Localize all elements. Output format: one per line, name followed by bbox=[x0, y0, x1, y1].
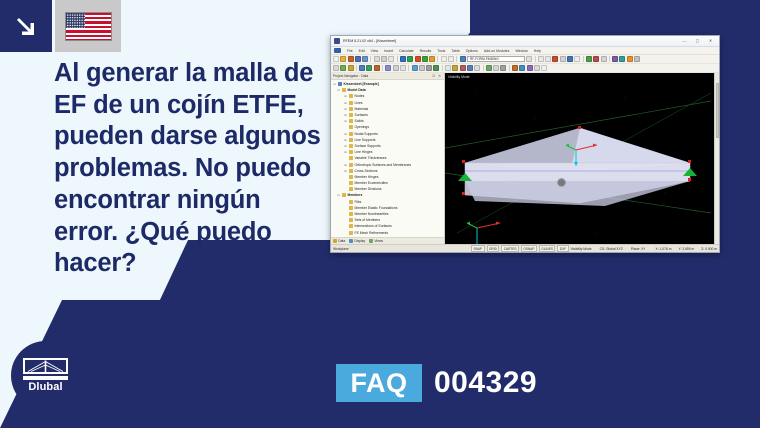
folder-icon bbox=[349, 169, 354, 173]
tree-item-label: Member Nonlinearities bbox=[355, 212, 389, 216]
toolbar2-fit-icon[interactable] bbox=[433, 65, 439, 71]
tree-item-label: Orthotropic Surfaces and Membranes bbox=[355, 163, 412, 167]
toolbar2-pan-icon[interactable] bbox=[419, 65, 425, 71]
expander-icon[interactable]: ⊟ bbox=[333, 82, 336, 86]
tree-item-label: Lines bbox=[355, 101, 363, 105]
close-icon[interactable]: ✕ bbox=[707, 39, 714, 43]
toolbar-module-icon[interactable] bbox=[460, 56, 466, 62]
folder-icon bbox=[349, 138, 354, 142]
tree-item-label: Line Supports bbox=[355, 138, 376, 142]
tree-item-label: Materials bbox=[355, 107, 369, 111]
rfem-menu-bar[interactable]: File Edit View Insert Calculate Results … bbox=[331, 47, 719, 55]
expander-icon[interactable]: ⊞ bbox=[344, 107, 347, 111]
toolbar2-front-icon[interactable] bbox=[452, 65, 458, 71]
toolbar-cut-icon[interactable] bbox=[374, 56, 380, 62]
project-icon bbox=[338, 82, 343, 86]
toolbar2-wire-icon[interactable] bbox=[474, 65, 480, 71]
toolbar-solid-icon[interactable] bbox=[619, 56, 625, 62]
navigator-tab-strip[interactable]: Data Display Views bbox=[331, 237, 444, 244]
toolbar-paste-icon[interactable] bbox=[388, 56, 394, 62]
menu-item-view[interactable]: View bbox=[371, 49, 379, 53]
menu-item-edit[interactable]: Edit bbox=[359, 49, 365, 53]
tree-item-label: Surface Supports bbox=[355, 144, 381, 148]
data-tab-icon bbox=[333, 239, 337, 243]
tree-item-label: Sets of Members bbox=[355, 218, 381, 222]
menu-item-window[interactable]: Window bbox=[515, 49, 527, 53]
tree-item-label: Cross-Sections bbox=[355, 169, 378, 173]
folder-icon bbox=[349, 125, 354, 129]
toolbar2-settings-icon[interactable] bbox=[534, 65, 540, 71]
folder-icon bbox=[349, 218, 354, 222]
expander-icon[interactable]: ⊞ bbox=[344, 169, 347, 173]
scrollbar-thumb[interactable] bbox=[716, 83, 720, 138]
navigator-tab-display[interactable]: Display bbox=[349, 239, 365, 243]
toolbar-table-icon[interactable] bbox=[441, 56, 447, 62]
folder-icon bbox=[349, 163, 354, 167]
expander-icon[interactable]: ⊞ bbox=[344, 144, 347, 148]
status-y: Y: 2.659 m bbox=[678, 247, 694, 251]
tree-item-label: FE Mesh Refinements bbox=[355, 231, 389, 235]
dlubal-logo[interactable]: Dlubal bbox=[11, 341, 80, 410]
status-toggle-snap[interactable]: SNAP bbox=[471, 245, 484, 252]
status-toggle-osnap[interactable]: OSNAP bbox=[521, 245, 537, 252]
rfem-toolbar-row-1[interactable]: RF-FORM-FINDING bbox=[331, 55, 719, 64]
expander-icon[interactable]: ⊞ bbox=[344, 101, 347, 105]
toolbar-copy-icon[interactable] bbox=[381, 56, 387, 62]
panel-controls-icon[interactable]: ⊡ ✕ bbox=[432, 74, 442, 78]
addon-module-combo[interactable]: RF-FORM-FINDING bbox=[467, 56, 525, 62]
toolbar-render-icon[interactable] bbox=[429, 56, 435, 62]
toolbar-view-icon[interactable] bbox=[586, 56, 592, 62]
minimize-icon[interactable]: — bbox=[681, 39, 688, 43]
tree-item-label: Openings bbox=[355, 125, 370, 129]
status-z: Z: 0.000 m bbox=[701, 247, 717, 251]
toolbar2-support-icon[interactable] bbox=[374, 65, 380, 71]
status-coordinate-system: CS: Global XYZ bbox=[600, 247, 623, 251]
tree-item-label: Ribs bbox=[355, 200, 362, 204]
expander-icon[interactable]: ⊞ bbox=[344, 113, 347, 117]
tree-item-label: Member Divisions bbox=[355, 187, 382, 191]
rfem-title-text: RFEM 5.21.02 x64 - [Kissenbeet] bbox=[343, 39, 396, 43]
tree-label-model-data: Model Data bbox=[348, 88, 366, 92]
folder-icon bbox=[349, 150, 354, 154]
viewport-vertical-scrollbar[interactable] bbox=[714, 73, 719, 244]
tab-label: Display bbox=[354, 239, 365, 243]
faq-badge: FAQ bbox=[336, 364, 422, 402]
toolbar-grid-icon[interactable] bbox=[448, 56, 454, 62]
display-tab-icon bbox=[349, 239, 353, 243]
status-workplane-label: Workplane bbox=[333, 247, 349, 251]
toolbar2-zoomwin-icon[interactable] bbox=[426, 65, 432, 71]
toolbar-results-icon[interactable] bbox=[422, 56, 428, 62]
tree-item-label: Nodes bbox=[355, 94, 365, 98]
toolbar2-light-icon[interactable] bbox=[500, 65, 506, 71]
toolbar-zoom-icon[interactable] bbox=[574, 56, 580, 62]
folder-icon bbox=[349, 144, 354, 148]
toolbar-redo-icon[interactable] bbox=[407, 56, 413, 62]
menu-item-insert[interactable]: Insert bbox=[384, 49, 393, 53]
rfem-title-bar: RFEM 5.21.02 x64 - [Kissenbeet] — ▢ ✕ bbox=[331, 36, 719, 47]
language-flag-badge[interactable] bbox=[55, 0, 121, 52]
project-navigator-panel[interactable]: Project Navigator - Data ⊡ ✕ ⊟ Kissenbee… bbox=[331, 73, 445, 244]
folder-icon bbox=[349, 175, 354, 179]
expander-icon[interactable]: ⊞ bbox=[344, 163, 347, 167]
tree-label-project: Kissenbeet [Example] bbox=[344, 82, 379, 86]
toolbar2-top-icon[interactable] bbox=[460, 65, 466, 71]
folder-icon bbox=[349, 212, 354, 216]
combo-dropdown-icon[interactable] bbox=[526, 56, 532, 62]
toolbar2-help-icon[interactable] bbox=[541, 65, 547, 71]
toolbar-run-icon[interactable] bbox=[552, 56, 558, 62]
status-toggle-glines[interactable]: GLINES bbox=[539, 245, 555, 252]
tree-item-label: Solids bbox=[355, 119, 364, 123]
expander-icon[interactable]: ⊟ bbox=[337, 88, 340, 92]
toolbar2-report-icon[interactable] bbox=[527, 65, 533, 71]
toolbar-info-icon[interactable] bbox=[567, 56, 573, 62]
folder-icon bbox=[349, 206, 354, 210]
tree-item-label: Member Hinges bbox=[355, 175, 379, 179]
folder-icon bbox=[349, 101, 354, 105]
views-tab-icon bbox=[369, 239, 373, 243]
toolbar2-rotate-icon[interactable] bbox=[412, 65, 418, 71]
menu-item-file[interactable]: File bbox=[347, 49, 353, 53]
toolbar-more-icon[interactable] bbox=[634, 56, 640, 62]
toolbar-preview-icon[interactable] bbox=[362, 56, 368, 62]
tree-item-label: Variable Thicknesses bbox=[355, 156, 387, 160]
window-controls[interactable]: — ▢ ✕ bbox=[681, 39, 716, 43]
toolbar2-shade-icon[interactable] bbox=[486, 65, 492, 71]
folder-icon bbox=[349, 187, 354, 191]
rfem-toolbar-row-2[interactable] bbox=[331, 64, 719, 73]
folder-icon bbox=[349, 132, 354, 136]
toolbar-next-icon[interactable] bbox=[545, 56, 551, 62]
toolbar2-anim-icon[interactable] bbox=[519, 65, 525, 71]
expander-icon[interactable]: ⊞ bbox=[344, 119, 347, 123]
toolbar2-transparent-icon[interactable] bbox=[493, 65, 499, 71]
rfem-main-area: Project Navigator - Data ⊡ ✕ ⊟ Kissenbee… bbox=[331, 73, 719, 244]
status-x: X: 1.076 m bbox=[656, 247, 672, 251]
toolbar-prev-icon[interactable] bbox=[538, 56, 544, 62]
toolbar-measure-icon[interactable] bbox=[601, 56, 607, 62]
tab-label: Data bbox=[338, 239, 345, 243]
download-arrow-badge[interactable] bbox=[0, 0, 52, 52]
status-plane: Plane: XY bbox=[631, 247, 646, 251]
toolbar2-member-icon[interactable] bbox=[359, 65, 365, 71]
toolbar2-line-icon[interactable] bbox=[348, 65, 354, 71]
toolbar-save-icon[interactable] bbox=[348, 56, 354, 62]
folder-icon bbox=[349, 200, 354, 204]
folder-icon bbox=[349, 107, 354, 111]
toolbar2-pointer-icon[interactable] bbox=[333, 65, 339, 71]
tree-item-label: Surfaces bbox=[355, 113, 368, 117]
model-viewport-3d[interactable]: Visibility Mode bbox=[445, 73, 714, 244]
toolbar-undo-icon[interactable] bbox=[400, 56, 406, 62]
download-arrow-icon bbox=[13, 13, 39, 39]
toolbar-calculate-icon[interactable] bbox=[415, 56, 421, 62]
menu-item-help[interactable]: Help bbox=[534, 49, 541, 53]
project-navigator-header: Project Navigator - Data ⊡ ✕ bbox=[331, 73, 444, 80]
menu-item-tools[interactable]: Tools bbox=[437, 49, 445, 53]
folder-icon bbox=[342, 193, 347, 197]
dlubal-logo-text: Dlubal bbox=[28, 381, 62, 393]
project-navigator-title: Project Navigator - Data bbox=[333, 74, 368, 78]
faq-slide: Al generar la malla de EF de un cojín ET… bbox=[0, 0, 760, 428]
toolbar2-iso-icon[interactable] bbox=[445, 65, 451, 71]
folder-icon bbox=[349, 224, 354, 228]
expander-icon[interactable]: ⊞ bbox=[344, 138, 347, 142]
menu-item-addon-modules[interactable]: Add-on Modules bbox=[484, 49, 510, 53]
toolbar2-hinge-icon[interactable] bbox=[385, 65, 391, 71]
maximize-icon[interactable]: ▢ bbox=[694, 39, 701, 43]
tab-label: Views bbox=[374, 239, 383, 243]
tree-label-members: Members bbox=[348, 193, 363, 197]
navigator-tab-data[interactable]: Data bbox=[333, 239, 345, 243]
folder-icon bbox=[349, 231, 354, 235]
etfe-cushion-3d-model bbox=[445, 73, 711, 244]
tree-item-label: Member Eccentricities bbox=[355, 181, 388, 185]
rfem-application-window[interactable]: RFEM 5.21.02 x64 - [Kissenbeet] — ▢ ✕ Fi… bbox=[330, 35, 720, 253]
menu-item-calculate[interactable]: Calculate bbox=[399, 49, 414, 53]
toolbar-surface-icon[interactable] bbox=[612, 56, 618, 62]
status-mode: Visibility Mode bbox=[571, 247, 592, 251]
folder-icon bbox=[342, 88, 347, 92]
toolbar-print-icon[interactable] bbox=[355, 56, 361, 62]
folder-icon bbox=[349, 156, 354, 160]
menu-grid-icon[interactable] bbox=[334, 48, 341, 53]
expander-icon[interactable]: ⊟ bbox=[337, 193, 340, 197]
menu-item-options[interactable]: Options bbox=[466, 49, 478, 53]
expander-icon[interactable]: ⊞ bbox=[344, 150, 347, 154]
expander-icon[interactable]: ⊞ bbox=[344, 94, 347, 98]
status-toggle-dxf[interactable]: DXF bbox=[557, 245, 568, 252]
toolbar2-node-icon[interactable] bbox=[340, 65, 346, 71]
expander-icon[interactable]: ⊞ bbox=[344, 132, 347, 136]
tree-item-label: Member Elastic Foundations bbox=[355, 206, 398, 210]
menu-item-results[interactable]: Results bbox=[420, 49, 432, 53]
faq-number: 004329 bbox=[434, 363, 537, 403]
folder-icon bbox=[349, 119, 354, 123]
toolbar-select-icon[interactable] bbox=[560, 56, 566, 62]
toolbar2-surface-icon[interactable] bbox=[366, 65, 372, 71]
tree-item-label: Intersections of Surfaces bbox=[355, 224, 392, 228]
status-toggle-cartes[interactable]: CARTES bbox=[501, 245, 519, 252]
us-flag-icon bbox=[65, 12, 112, 41]
status-toggle-grid[interactable]: GRID bbox=[487, 245, 500, 252]
toolbar-load-icon[interactable] bbox=[627, 56, 633, 62]
toolbar2-section-icon[interactable] bbox=[400, 65, 406, 71]
tree-item-label: Line Hinges bbox=[355, 150, 373, 154]
folder-icon bbox=[349, 181, 354, 185]
toolbar2-side-icon[interactable] bbox=[467, 65, 473, 71]
navigator-tab-views[interactable]: Views bbox=[369, 239, 383, 243]
folder-icon bbox=[349, 113, 354, 117]
rfem-app-icon bbox=[334, 38, 340, 44]
toolbar2-mesh-icon[interactable] bbox=[393, 65, 399, 71]
dlubal-frame-icon bbox=[23, 358, 68, 379]
tree-item-label: Nodal Supports bbox=[355, 132, 378, 136]
toolbar-delete-icon[interactable] bbox=[593, 56, 599, 62]
rfem-status-bar: Workplane SNAP GRID CARTES OSNAP GLINES … bbox=[331, 244, 719, 252]
model-tree[interactable]: ⊟ Kissenbeet [Example] ⊟ Model Data ⊞Nod… bbox=[331, 80, 444, 237]
menu-item-table[interactable]: Table bbox=[451, 49, 459, 53]
faq-question-headline: Al generar la malla de EF de un cojín ET… bbox=[54, 58, 322, 280]
toolbar-new-icon[interactable] bbox=[333, 56, 339, 62]
viewport-context-button[interactable] bbox=[557, 178, 566, 187]
toolbar2-deform-icon[interactable] bbox=[512, 65, 518, 71]
toolbar-open-icon[interactable] bbox=[340, 56, 346, 62]
folder-icon bbox=[349, 94, 354, 98]
